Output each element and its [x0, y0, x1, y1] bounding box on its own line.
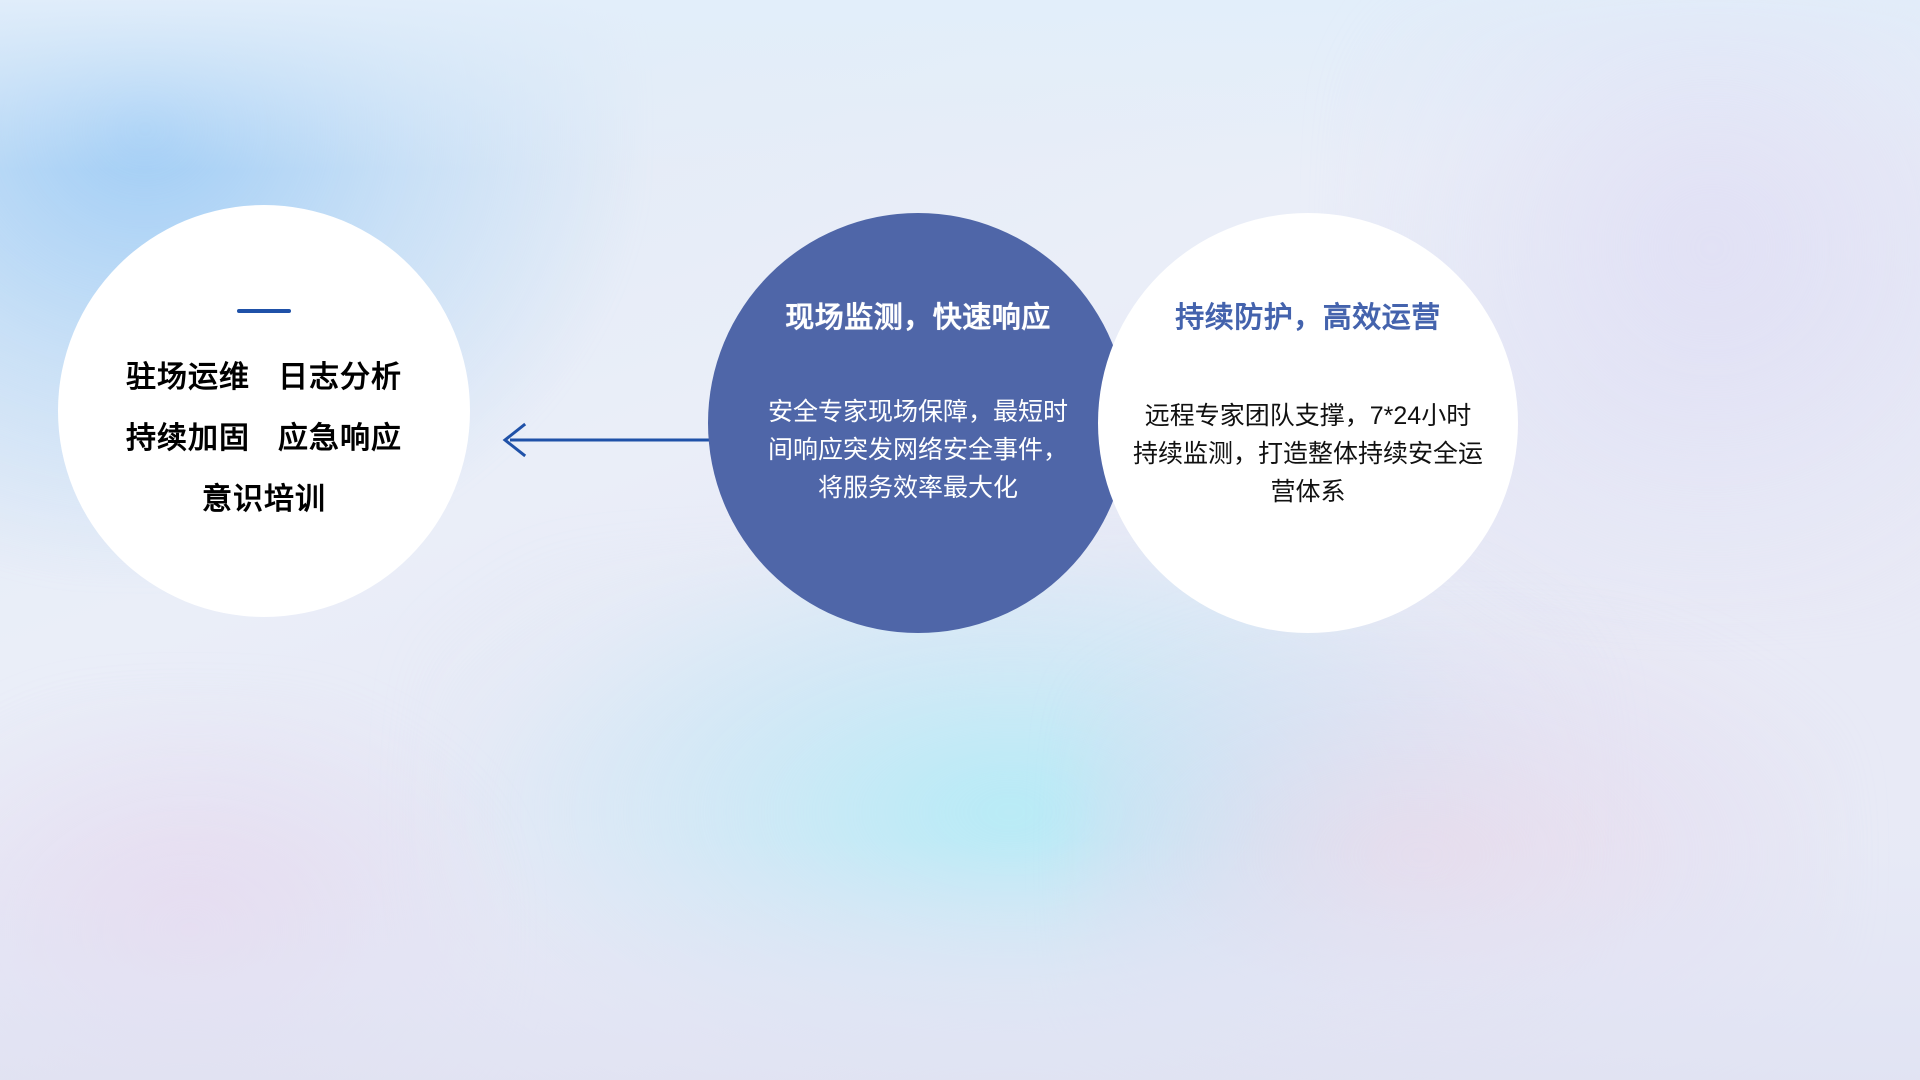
slide-canvas: 现场监测，快速响应 安全专家现场保障，最短时间响应突发网络安全事件，将服务效率最…: [0, 0, 1920, 1080]
right-circle[interactable]: 持续防护，高效运营 远程专家团队支撑，7*24小时持续监测，打造整体持续安全运营…: [1098, 213, 1518, 633]
middle-circle-body: 安全专家现场保障，最短时间响应突发网络安全事件，将服务效率最大化: [763, 393, 1073, 507]
middle-circle-title: 现场监测，快速响应: [785, 303, 1051, 335]
left-circle-divider: [237, 309, 291, 313]
right-circle-body: 远程专家团队支撑，7*24小时持续监测，打造整体持续安全运营体系: [1133, 397, 1483, 511]
left-circle-line-1: 驻场运维 日志分析: [126, 363, 402, 393]
background-glow-bottom-haze: [0, 840, 1920, 1080]
right-circle-title: 持续防护，高效运营: [1175, 303, 1441, 335]
arrow-connector-icon: [488, 418, 718, 462]
left-circle[interactable]: 驻场运维 日志分析 持续加固 应急响应 意识培训: [58, 205, 470, 617]
left-circle-line-3: 意识培训: [202, 485, 326, 515]
middle-circle[interactable]: 现场监测，快速响应 安全专家现场保障，最短时间响应突发网络安全事件，将服务效率最…: [708, 213, 1128, 633]
left-circle-line-2: 持续加固 应急响应: [126, 424, 402, 454]
